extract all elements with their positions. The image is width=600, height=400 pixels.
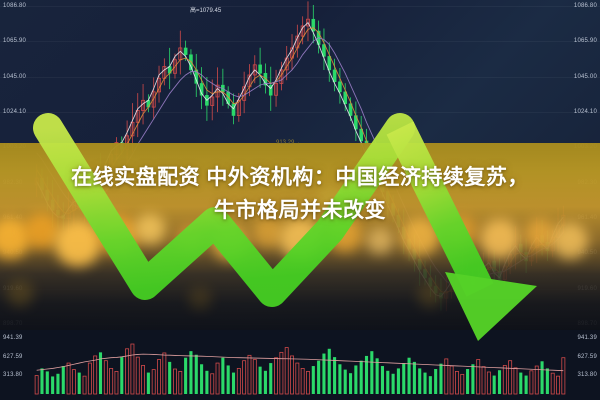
volume-axis-tick-left: 627.59 (3, 354, 23, 360)
price-axis-tick-right: 1086.80 (574, 3, 597, 9)
green-zigzag-arrow (0, 110, 600, 350)
headline-line-2: 牛市格局并未改变 (0, 195, 600, 228)
headline-line-1: 在线实盘配资 中外资机构：中国经济持续复苏， (0, 162, 600, 195)
high-price-annotation: 高=1079.45 (190, 8, 221, 14)
chart-screenshot: 高=1079.45 1086.801065.901045.001024.1010… (0, 0, 600, 400)
price-axis-tick-right: 1065.90 (574, 38, 597, 44)
volume-ma-path (37, 354, 564, 371)
volume-axis-tick-left: 313.80 (3, 372, 23, 378)
volume-axis-tick-right: 627.59 (577, 354, 597, 360)
price-axis-tick-left: 1045.00 (3, 74, 26, 80)
volume-axis-tick-right: 313.80 (577, 372, 597, 378)
price-axis-tick-right: 1045.00 (574, 74, 597, 80)
page-title: 在线实盘配资 中外资机构：中国经济持续复苏， 牛市格局并未改变 (0, 162, 600, 227)
price-axis-tick-left: 1086.80 (3, 3, 26, 9)
price-axis-tick-left: 1065.90 (3, 38, 26, 44)
